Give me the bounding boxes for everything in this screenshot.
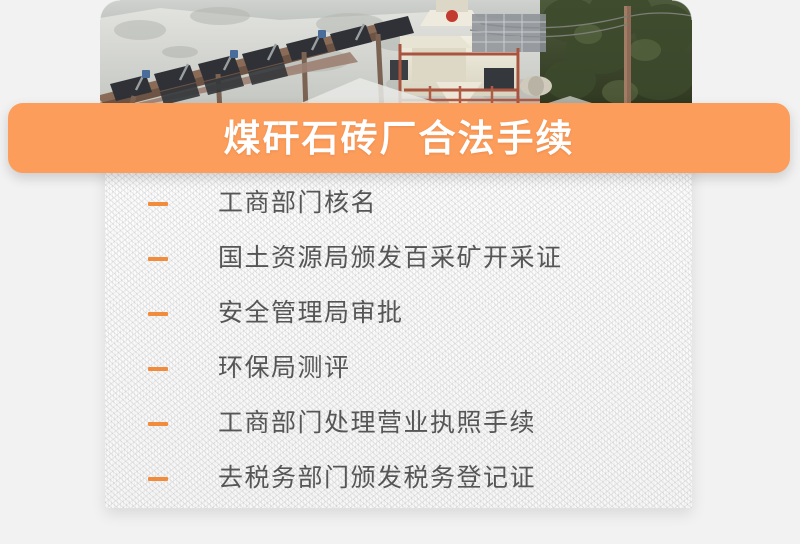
photo-corner-mask-topright: [672, 0, 692, 20]
list-item: 工商部门处理营业执照手续: [105, 396, 692, 451]
photo-corner-mask-topleft: [100, 0, 120, 20]
hero-photo: [100, 0, 692, 112]
page-root: 煤矸石砖厂合法手续 工商部门核名 国土资源局颁发百采矿开采证 安全管理局审批 环…: [0, 0, 800, 544]
list-item-label: 去税务部门颁发税务登记证: [218, 466, 536, 491]
title-banner: 煤矸石砖厂合法手续: [8, 103, 790, 173]
procedure-list: 工商部门核名 国土资源局颁发百采矿开采证 安全管理局审批 环保局测评 工商部门处…: [105, 176, 692, 506]
page-title: 煤矸石砖厂合法手续: [224, 120, 575, 157]
list-item-label: 工商部门处理营业执照手续: [218, 411, 536, 436]
dash-bullet-icon: [148, 422, 168, 426]
dash-bullet-icon: [148, 477, 168, 481]
list-item: 去税务部门颁发税务登记证: [105, 451, 692, 506]
list-item-label: 环保局测评: [218, 356, 351, 381]
list-item-label: 国土资源局颁发百采矿开采证: [218, 246, 563, 271]
list-item: 国土资源局颁发百采矿开采证: [105, 231, 692, 286]
list-item-label: 工商部门核名: [218, 191, 377, 216]
dash-bullet-icon: [148, 202, 168, 206]
list-item: 工商部门核名: [105, 176, 692, 231]
list-item-label: 安全管理局审批: [218, 301, 404, 326]
hero-photo-illustration: [100, 0, 692, 112]
dash-bullet-icon: [148, 367, 168, 371]
dash-bullet-icon: [148, 257, 168, 261]
dash-bullet-icon: [148, 312, 168, 316]
list-item: 环保局测评: [105, 341, 692, 396]
list-item: 安全管理局审批: [105, 286, 692, 341]
